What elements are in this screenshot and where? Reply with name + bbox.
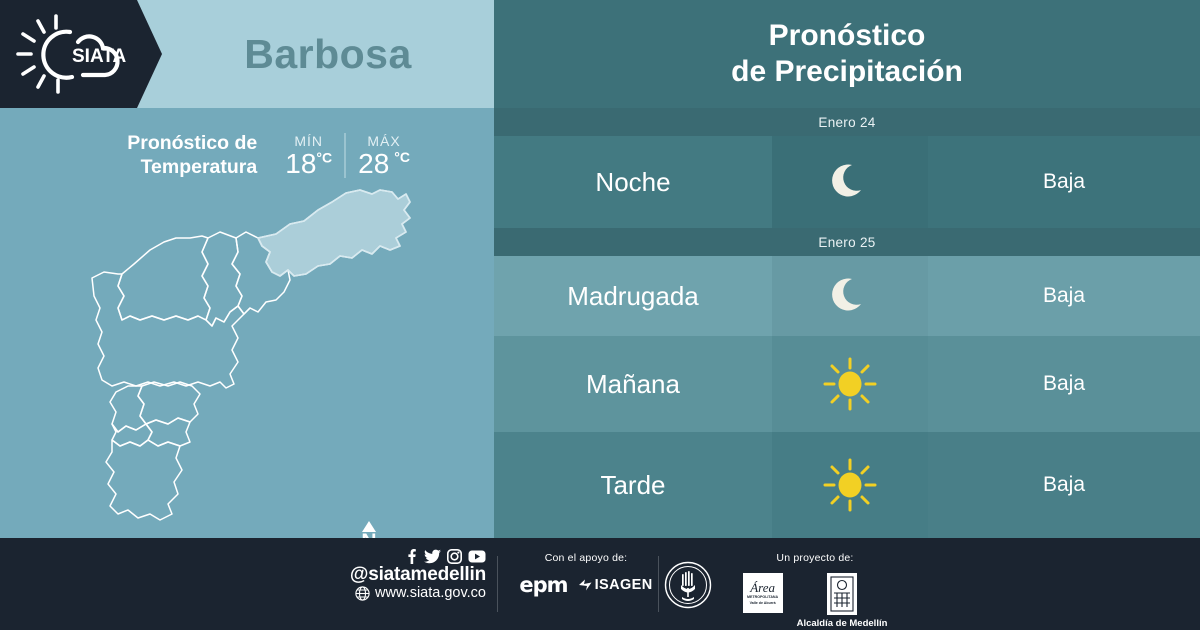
alcaldia-de-medellin-icon [827, 573, 857, 615]
precipitation-title: Pronóstico de Precipitación [494, 0, 1200, 108]
temperature-max-value: 28 [358, 148, 389, 179]
social-handle[interactable]: @siatamedellin [350, 565, 486, 586]
forecast-row-noche[interactable]: Noche Baja [494, 136, 1200, 228]
temperature-min-unit: °C [316, 149, 332, 165]
temperature-max-unit: °C [394, 149, 410, 165]
temperature-min-caption: MÍN [294, 133, 323, 149]
map-region-medellin[interactable] [92, 272, 250, 388]
isagen-logo[interactable]: ISAGEN [578, 577, 653, 593]
map-region-barbosa[interactable] [258, 190, 410, 276]
temperature-min-value-wrap: 18°C [285, 150, 332, 178]
date-band-enero-25: Enero 25 [494, 228, 1200, 256]
area-script-text: Área [750, 581, 775, 594]
footer-divider-1 [497, 556, 498, 612]
temperature-label-line2: Temperatura [82, 155, 257, 179]
website-url: www.siata.gov.co [375, 586, 486, 602]
sun-cloud-icon: SIATA [14, 12, 134, 96]
map-region-envigado[interactable] [138, 382, 200, 424]
temperature-max-caption: MÁX [367, 133, 400, 149]
temperature-label-line1: Pronóstico de [82, 131, 257, 155]
forecast-icon-cell-madrugada [772, 256, 928, 336]
temperature-panel: SIATA Barbosa Pronóstico de Temperatura … [0, 0, 494, 538]
temperature-max-value-wrap: 28°C [358, 150, 410, 178]
precipitation-title-line1: Pronóstico [769, 18, 926, 54]
website-line[interactable]: www.siata.gov.co [355, 586, 486, 602]
support-logos-row: epm ISAGEN [512, 573, 660, 597]
moon-icon [822, 154, 878, 210]
temperature-min-value: 18 [285, 148, 316, 179]
infographic-canvas: SIATA Barbosa Pronóstico de Temperatura … [0, 0, 1200, 630]
map-svg [80, 188, 440, 533]
epm-logo[interactable]: epm [519, 573, 567, 597]
map-region-bello[interactable] [118, 236, 210, 320]
project-logos-row: Área METROPOLITANA Valle de Aburrá Alcal… [700, 573, 930, 629]
area-sub-line2: Valle de Aburrá [750, 601, 776, 605]
forecast-probability-madrugada: Baja [928, 256, 1200, 336]
page-title: Barbosa [162, 0, 494, 108]
globe-icon [355, 586, 370, 601]
date-band-enero-24: Enero 24 [494, 108, 1200, 136]
valle-de-aburra-map: N [80, 188, 440, 533]
siata-wordmark: SIATA [72, 46, 126, 67]
support-block: Con el apoyo de: epm ISAGEN [512, 552, 660, 597]
isagen-wordmark: ISAGEN [595, 577, 653, 593]
forecast-probability-manana: Baja [928, 336, 1200, 432]
isagen-mark-icon [578, 578, 593, 592]
temperature-max: MÁX 28°C [346, 133, 422, 178]
sun-icon [821, 456, 879, 514]
forecast-probability-tarde: Baja [928, 432, 1200, 538]
facebook-icon[interactable] [404, 548, 418, 564]
siata-logo-flag: SIATA [0, 0, 162, 108]
forecast-period-manana: Mañana [494, 336, 772, 432]
left-header-bar: SIATA Barbosa [0, 0, 494, 108]
forecast-icon-cell-noche [772, 136, 928, 228]
forecast-probability-noche: Baja [928, 136, 1200, 228]
forecast-period-tarde: Tarde [494, 432, 772, 538]
youtube-icon[interactable] [468, 550, 486, 563]
project-caption: Un proyecto de: [700, 552, 930, 564]
project-block: Un proyecto de: Área METROPOLITANA Valle… [700, 552, 930, 629]
twitter-icon[interactable] [424, 548, 441, 564]
footer-divider-2 [658, 556, 659, 612]
support-caption: Con el apoyo de: [512, 552, 660, 564]
forecast-icon-cell-tarde [772, 432, 928, 538]
sun-icon [821, 355, 879, 413]
instagram-icon[interactable] [447, 549, 462, 564]
temperature-label: Pronóstico de Temperatura [82, 131, 257, 180]
area-metropolitana-logo[interactable]: Área METROPOLITANA Valle de Aburrá [743, 573, 783, 613]
map-region-itagui[interactable] [110, 386, 146, 432]
precipitation-title-line2: de Precipitación [731, 54, 963, 90]
temperature-values: MÍN 18°C MÁX 28°C [273, 133, 422, 178]
forecast-row-tarde[interactable]: Tarde Baja [494, 432, 1200, 538]
social-block: @siatamedellin www.siata.gov.co [300, 548, 486, 602]
alcaldia-label: Alcaldía de Medellín [797, 618, 888, 629]
alcaldia-logo-block[interactable]: Alcaldía de Medellín [797, 573, 888, 629]
forecast-row-manana[interactable]: Mañana Baja [494, 336, 1200, 432]
temperature-summary: Pronóstico de Temperatura MÍN 18°C MÁX 2… [82, 124, 422, 186]
temperature-min: MÍN 18°C [273, 133, 346, 178]
map-region-caldas[interactable] [106, 440, 182, 520]
forecast-icon-cell-manana [772, 336, 928, 432]
moon-icon [822, 268, 878, 324]
precipitation-panel: Pronóstico de Precipitación Enero 24 Noc… [494, 0, 1200, 538]
area-sub-line1: METROPOLITANA [747, 595, 778, 599]
forecast-period-noche: Noche [494, 136, 772, 228]
social-icons-row [404, 548, 486, 564]
forecast-row-madrugada[interactable]: Madrugada Baja [494, 256, 1200, 336]
forecast-period-madrugada: Madrugada [494, 256, 772, 336]
